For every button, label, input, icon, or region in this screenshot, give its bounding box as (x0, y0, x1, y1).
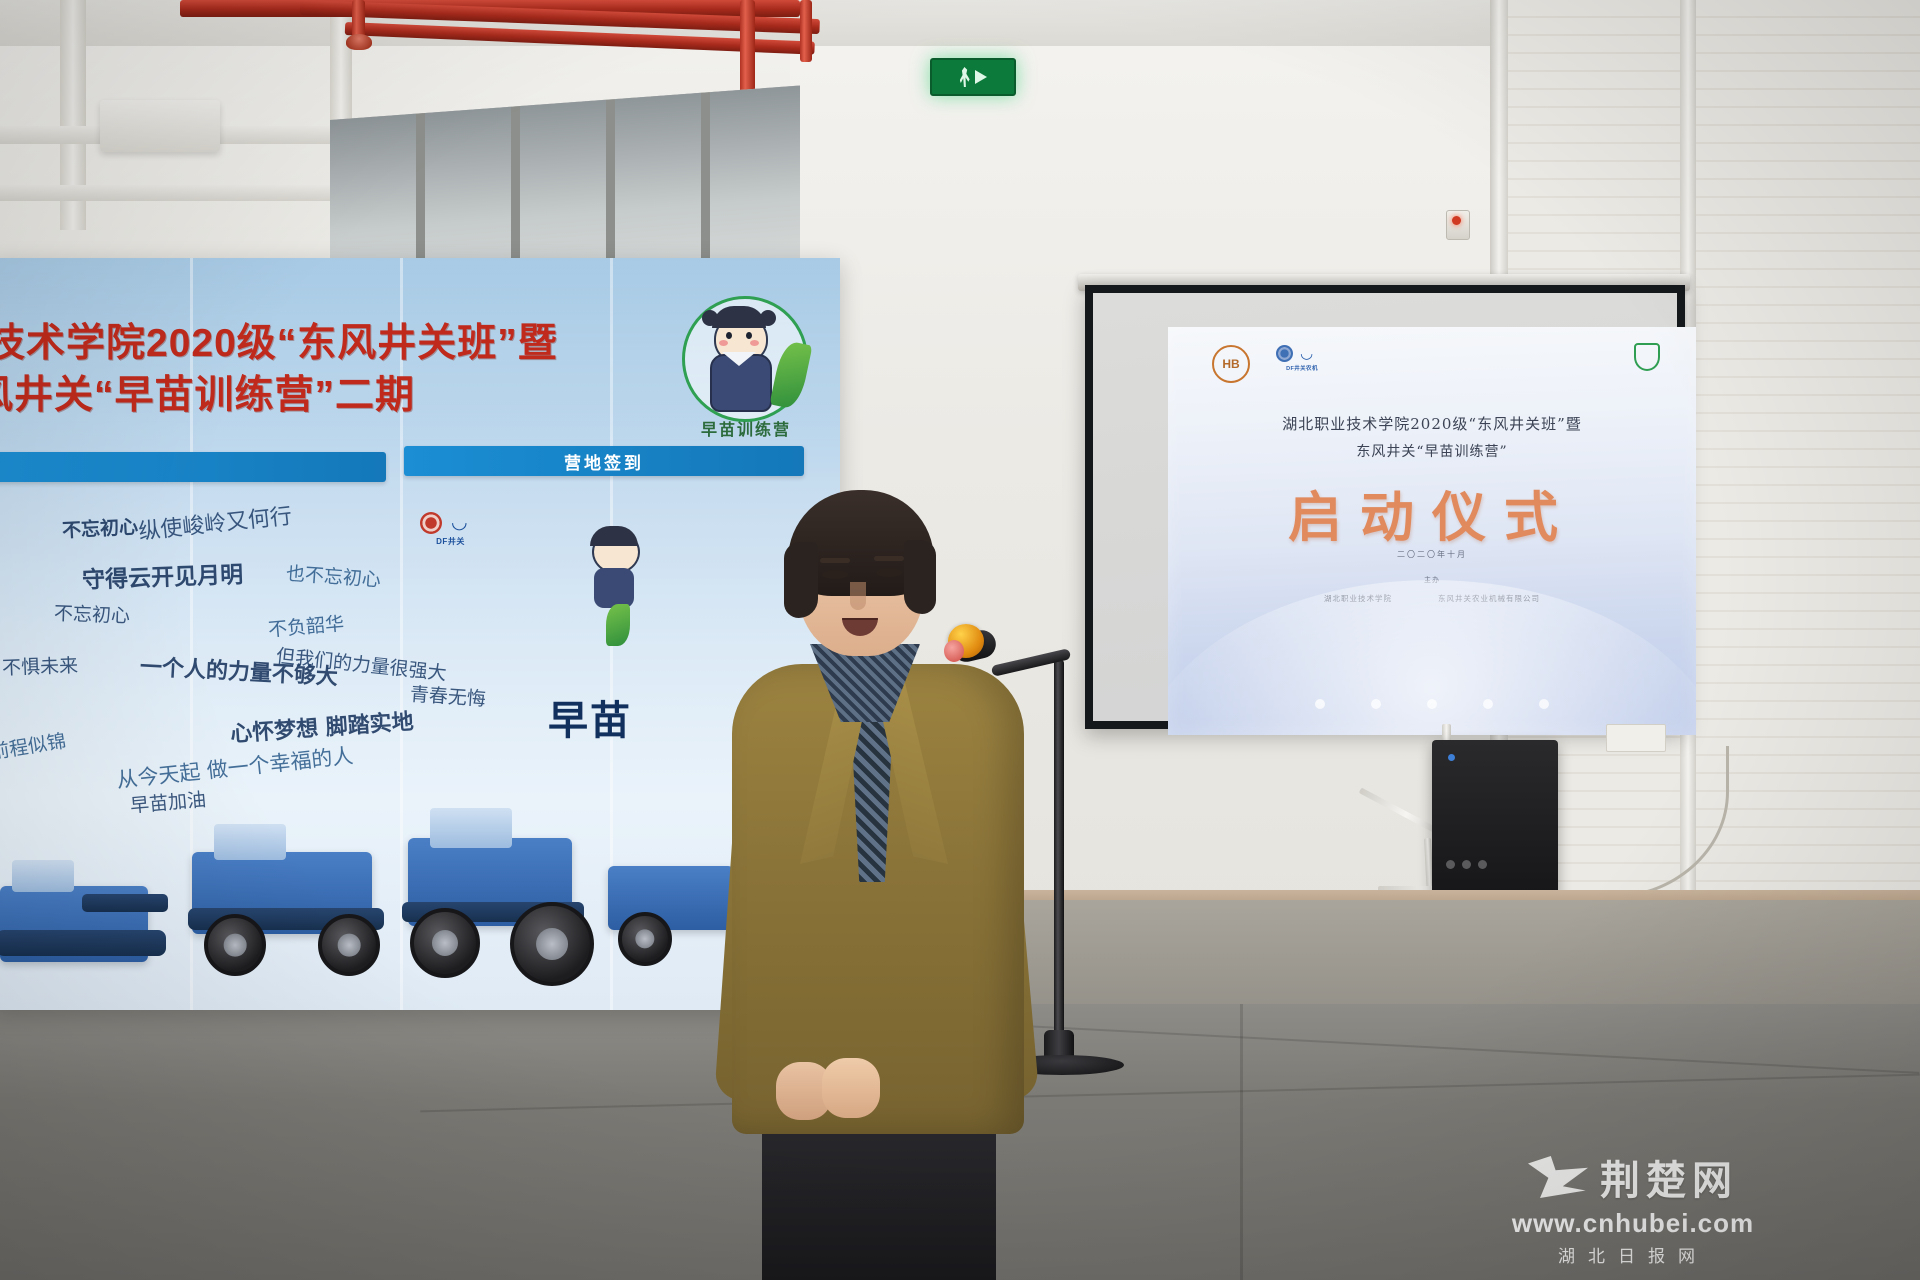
alarm-led-icon (1452, 216, 1461, 225)
slide-dot (1315, 699, 1325, 709)
tractor-cab (430, 808, 512, 848)
slide-line-2: 东风井关“早苗训练营” (1168, 441, 1696, 461)
swallow-icon: ◡ (451, 513, 481, 533)
watermark-brand: 荆楚网 (1600, 1148, 1738, 1206)
signature: 不负韶华 (267, 609, 345, 643)
university-seal-icon: HB (1212, 345, 1250, 383)
slide-dot (1371, 699, 1381, 709)
person-eye-right (876, 568, 902, 577)
farm-machinery-illustration (0, 790, 840, 1010)
transplanter-cab (214, 824, 286, 860)
sprinkler-head-1 (346, 34, 372, 50)
dongfeng-mark-icon (420, 512, 442, 534)
floor-seam-3 (1240, 1004, 1243, 1280)
person-hair-side-right (904, 540, 936, 614)
harvester-track (0, 930, 166, 956)
sprinkler-drop-3 (800, 0, 812, 62)
slide-dot (1427, 699, 1437, 709)
bird-logo-icon (1528, 1156, 1588, 1198)
camp-logo (1632, 343, 1662, 377)
harvester-arm (82, 894, 168, 912)
mascot-label: 早苗训练营 (676, 416, 816, 440)
alarm-box (1446, 210, 1470, 240)
mascot-cheek-right (750, 340, 759, 346)
signature: 前程似锦 (0, 726, 68, 765)
signature: 青春无悔 (409, 679, 487, 711)
signature: 纵使峻岭又何行 (137, 498, 294, 546)
signature: 不惧未来 (2, 651, 79, 681)
emergency-exit-sign (930, 58, 1016, 96)
speaker-person (726, 496, 1026, 1280)
running-man-icon (960, 67, 971, 87)
sponsor-logo-marks: ◡ (420, 512, 481, 534)
sprout-shield-icon (1634, 343, 1660, 371)
swallow-icon: ◡ (1300, 346, 1328, 362)
transplanter-wheel-front (204, 914, 266, 976)
slide-organizer-2: 东风井关农业机械有限公司 (1438, 593, 1540, 604)
tractor-wheel-rear (510, 902, 594, 986)
tractor-wheel-front (410, 908, 480, 978)
signature: 守得云开见月明 (81, 555, 243, 595)
speaker-knobs[interactable] (1446, 860, 1487, 869)
banner-bar-signin: 营地签到 (404, 446, 804, 476)
air-duct (100, 100, 220, 152)
projector-screen-surface: HB ◡ DF井关农机 湖北职业技术学院2020级“东风井关班”暨 东风井关“早… (1093, 293, 1677, 721)
person-hair-side-left (784, 542, 818, 618)
slide-organizer-1: 湖北职业技术学院 (1324, 593, 1392, 604)
banner-sponsor-logo: ◡ DF井关 (420, 512, 481, 547)
presentation-slide: HB ◡ DF井关农机 湖北职业技术学院2020级“东风井关班”暨 东风井关“早… (1168, 327, 1696, 735)
banner-title-line-2: 风井关“早苗训练营”二期 (0, 370, 686, 422)
power-led-icon (1448, 754, 1455, 761)
banner-title: 技术学院2020级“东风井关班”暨 风井关“早苗训练营”二期 (0, 318, 686, 422)
signature: 不忘初心 (61, 512, 138, 543)
transplanter-wheel-rear (318, 914, 380, 976)
volume-knob[interactable] (1446, 860, 1455, 869)
slide-date: 二〇二〇年十月 (1168, 549, 1696, 560)
slide-dot (1539, 699, 1549, 709)
watermark-subtitle: 湖北日报网 (1398, 1242, 1868, 1267)
input-knob[interactable] (1478, 860, 1487, 869)
banner-title-line-1: 技术学院2020级“东风井关班”暨 (0, 322, 558, 365)
dongfeng-logo-marks: ◡ (1276, 345, 1328, 362)
person-nose (850, 582, 866, 610)
sprinkler-drop-1 (352, 0, 365, 38)
banner-big-signature: 早苗 (548, 688, 632, 746)
dongfeng-mark-icon (1276, 345, 1293, 362)
slide-line-1: 湖北职业技术学院2020级“东风井关班”暨 (1168, 413, 1696, 434)
tone-knob[interactable] (1462, 860, 1471, 869)
signature: 不忘初心 (54, 599, 131, 629)
camp-mascot-badge: 早苗训练营 (672, 292, 824, 452)
mini-mascot-body (594, 568, 634, 608)
watermark: 荆楚网 www.cnhubei.com 湖北日报网 (1398, 1148, 1868, 1260)
arrow-right-icon (975, 70, 987, 84)
signature: 心怀梦想 脚踏实地 (229, 704, 414, 749)
mini-mascot-leaf-icon (606, 604, 630, 646)
dongfeng-logo-text: DF井关农机 (1286, 364, 1318, 372)
dongfeng-iseki-logo: ◡ DF井关农机 (1276, 345, 1328, 372)
mascot-cheek-left (719, 340, 728, 346)
slide-dot (1483, 699, 1493, 709)
person-eyebrow-left (820, 558, 850, 563)
slide-organizer-label: 主办 (1168, 575, 1696, 585)
watermark-brand-row: 荆楚网 (1398, 1148, 1868, 1206)
harvester-cab (12, 860, 74, 892)
slide-decor-dots (1168, 699, 1696, 709)
machine-4-wheel (618, 912, 672, 966)
person-eyebrow-right (874, 556, 904, 561)
person-hand-right (822, 1058, 880, 1118)
slide-title: 启动仪式 (1168, 473, 1696, 552)
banner-bar-left (0, 452, 386, 482)
microphone-stand-pole (1054, 660, 1064, 1060)
watermark-url: www.cnhubei.com (1398, 1208, 1868, 1239)
mascot-eye-right (746, 332, 752, 339)
signature: 也不忘初心 (285, 559, 382, 593)
sponsor-logo-text: DF井关 (436, 536, 465, 547)
person-eye-left (822, 570, 848, 579)
photo-scene: 区2 配电箱 高压危险 消防栓 使用方法说明 打开消火栓箱门 取出水带并展开 接… (0, 0, 1920, 1280)
slide-organizers: 湖北职业技术学院 东风井关农业机械有限公司 (1168, 593, 1696, 604)
projector-screen: HB ◡ DF井关农机 湖北职业技术学院2020级“东风井关班”暨 东风井关“早… (1085, 285, 1685, 729)
slide-logo-row: HB ◡ DF井关农机 (1212, 345, 1328, 383)
mascot-eye-left (726, 332, 732, 339)
banner-mini-mascot (582, 530, 648, 640)
